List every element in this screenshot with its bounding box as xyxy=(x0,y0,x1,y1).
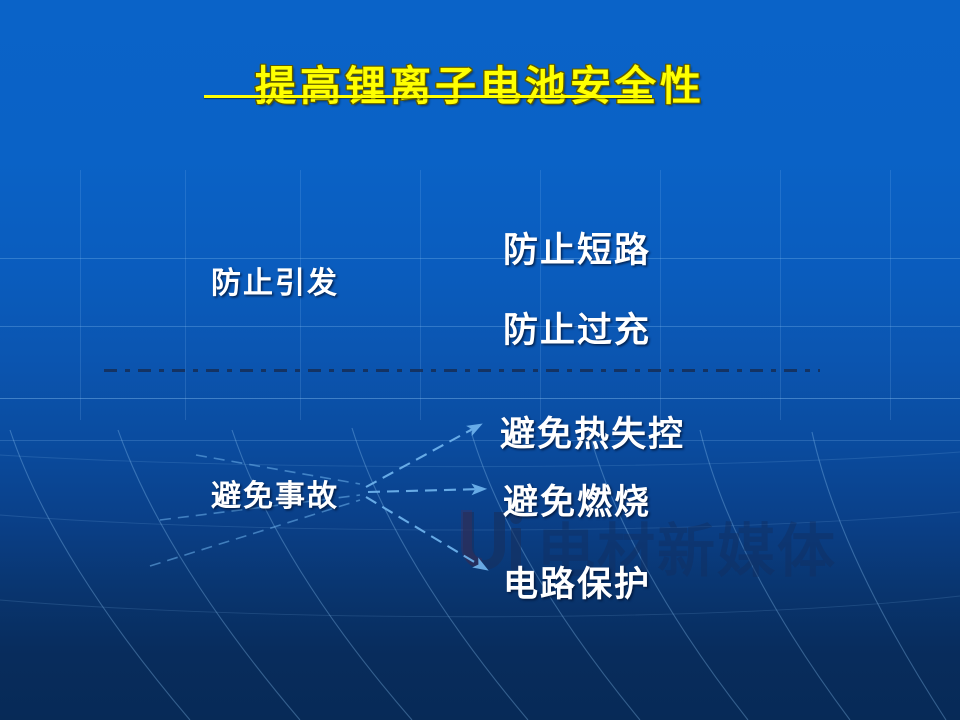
meridian-curve xyxy=(352,428,528,720)
meridian-line xyxy=(780,170,781,420)
connector-arrow xyxy=(366,497,486,569)
group-item-prevent-short-circuit: 防止短路 xyxy=(503,222,651,273)
group-item-avoid-combustion: 避免燃烧 xyxy=(503,474,651,525)
meridian-line xyxy=(660,170,661,420)
meridian-curve xyxy=(812,432,946,720)
meridian-line xyxy=(540,170,541,420)
slide-canvas: 电材新媒体 提高锂离子电池安全性 防止引发 防止短路 防止过充 避免事故 避免热… xyxy=(0,0,960,720)
connector-arrow xyxy=(368,489,484,492)
group-label-prevent-trigger: 防止引发 xyxy=(211,258,339,302)
title-underline xyxy=(204,95,652,98)
latitude-curve xyxy=(0,452,960,467)
meridian-curve xyxy=(700,430,850,720)
group-item-prevent-overcharge: 防止过充 xyxy=(503,302,651,353)
latitude-curve xyxy=(0,512,960,530)
latitude-curve xyxy=(0,596,960,617)
connector-arrow xyxy=(366,425,480,487)
latitude-line xyxy=(0,326,960,327)
latitude-line xyxy=(0,440,960,441)
section-divider xyxy=(104,369,820,372)
latitude-line xyxy=(0,398,960,399)
meridian-line xyxy=(420,170,421,420)
latitude-line xyxy=(0,258,960,259)
meridian-line xyxy=(185,170,186,420)
group-item-avoid-thermal-runaway: 避免热失控 xyxy=(500,406,685,457)
group-label-avoid-accident: 避免事故 xyxy=(211,471,339,515)
meridian-line xyxy=(80,170,81,420)
meridian-line xyxy=(890,170,891,420)
meridian-curve xyxy=(10,430,190,720)
page-title: 提高锂离子电池安全性 xyxy=(0,52,960,112)
group-item-circuit-protection: 电路保护 xyxy=(503,556,651,607)
